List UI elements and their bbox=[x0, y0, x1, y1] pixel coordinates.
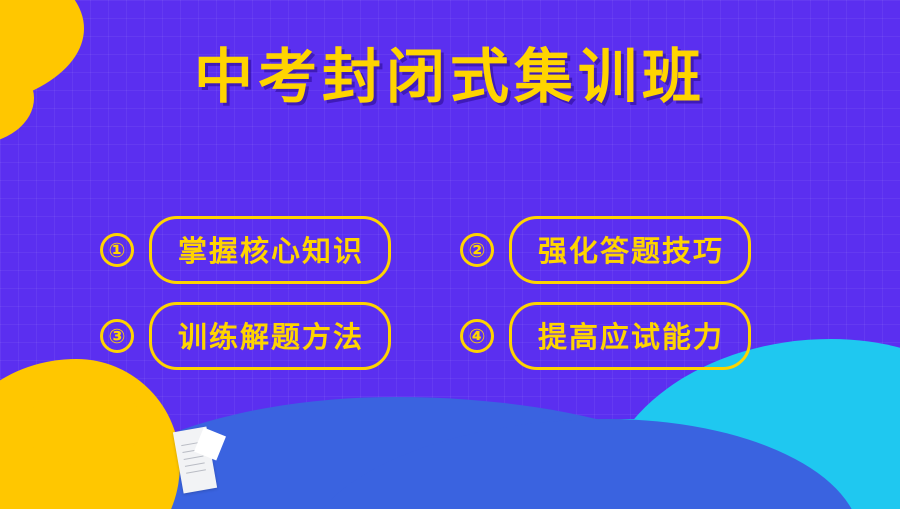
decorative-blob-bottom-left-cyan-dot bbox=[4, 403, 56, 445]
decorative-blob-bottom-blue-secondary bbox=[300, 419, 860, 509]
list-item: ② 强化答题技巧 bbox=[460, 216, 810, 284]
bullet-number-4: ④ bbox=[460, 319, 494, 353]
bullet-number-1: ① bbox=[100, 233, 134, 267]
poster-canvas: 中考封闭式集训班 ① 掌握核心知识 ② 强化答题技巧 ③ 训练解题方法 ④ 提高… bbox=[0, 0, 900, 509]
decorative-blob-bottom-right-cyan-secondary bbox=[510, 419, 750, 509]
bullet-text-1: 掌握核心知识 bbox=[149, 216, 391, 284]
decorative-blob-bottom-left-cyan bbox=[0, 449, 95, 509]
poster-title: 中考封闭式集训班 bbox=[0, 46, 900, 108]
bullet-text-3: 训练解题方法 bbox=[149, 302, 391, 370]
bullet-number-2: ② bbox=[460, 233, 494, 267]
decorative-blob-bottom-left-yellow bbox=[0, 359, 180, 509]
bullet-list: ① 掌握核心知识 ② 强化答题技巧 ③ 训练解题方法 ④ 提高应试能力 bbox=[100, 216, 810, 370]
paper-sheet-decoration bbox=[173, 427, 217, 494]
decorative-blob-bottom-blue bbox=[60, 397, 760, 509]
bullet-number-3: ③ bbox=[100, 319, 134, 353]
list-item: ① 掌握核心知识 bbox=[100, 216, 450, 284]
decorative-blob-bottom-left-yellow-secondary bbox=[26, 380, 141, 465]
list-item: ④ 提高应试能力 bbox=[460, 302, 810, 370]
bullet-text-2: 强化答题技巧 bbox=[509, 216, 751, 284]
paper-corner-decoration bbox=[194, 427, 226, 460]
bullet-text-4: 提高应试能力 bbox=[509, 302, 751, 370]
list-item: ③ 训练解题方法 bbox=[100, 302, 450, 370]
